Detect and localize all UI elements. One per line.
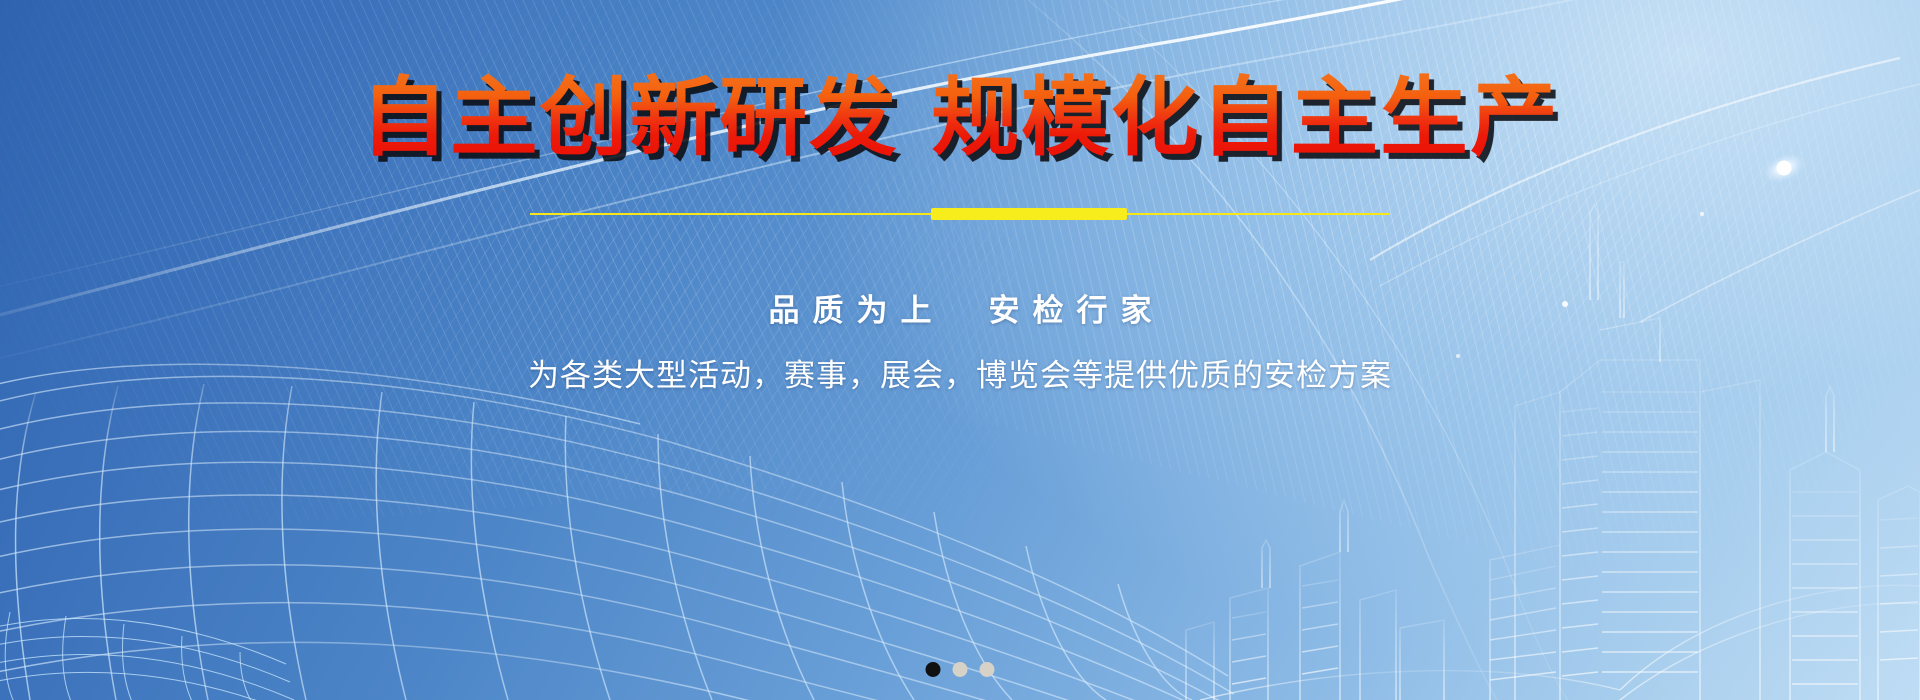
divider-rule bbox=[530, 205, 1390, 223]
banner-content: 自主创新研发 规模化自主生产 品质为上 安检行家 为各类大型活动，赛事，展会，博… bbox=[0, 0, 1920, 700]
banner-description: 为各类大型活动，赛事，展会，博览会等提供优质的安检方案 bbox=[528, 350, 1392, 395]
carousel-dot-1[interactable] bbox=[926, 662, 941, 677]
banner-headline: 自主创新研发 规模化自主生产 bbox=[360, 72, 1559, 165]
carousel-dot-2[interactable] bbox=[953, 662, 968, 677]
hero-banner: 自主创新研发 规模化自主生产 品质为上 安检行家 为各类大型活动，赛事，展会，博… bbox=[0, 0, 1920, 700]
banner-tagline: 品质为上 安检行家 bbox=[756, 285, 1165, 330]
divider-accent-bar bbox=[931, 208, 1127, 220]
carousel-indicators[interactable] bbox=[926, 662, 995, 677]
carousel-dot-3[interactable] bbox=[980, 662, 995, 677]
